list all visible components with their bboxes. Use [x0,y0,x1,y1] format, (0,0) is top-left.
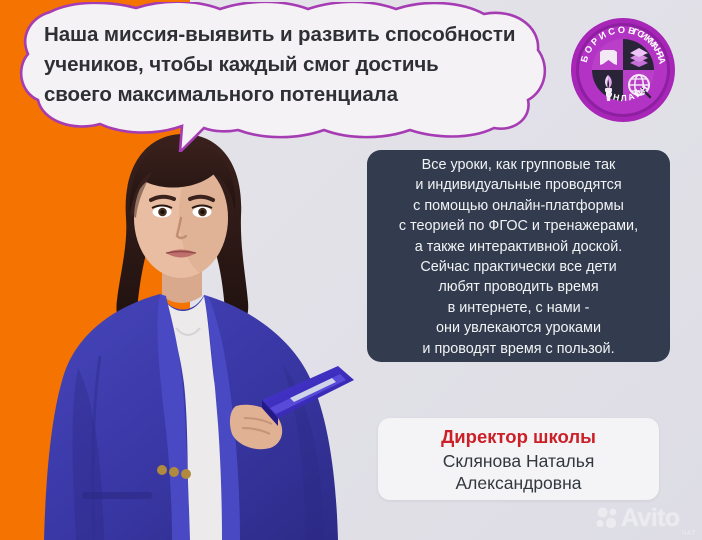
jacket-button [169,467,179,477]
jacket-pocket [82,492,152,499]
director-name: Склянова Наталья Александровна [443,451,595,495]
info-line-3: с помощью онлайн-платформы [377,196,660,216]
school-logo: БОРИСОВСКАЯ ГИМНАЗИЯ ОНЛАЙН [570,17,676,123]
director-photo [38,118,368,540]
info-panel-text: Все уроки, как групповые так и индивидуа… [377,155,660,360]
jacket-button [157,465,167,475]
info-line-7: любят проводить время [377,277,660,297]
info-line-8: в интернете, с нами - [377,298,660,318]
poster-canvas: Наша миссия-выявить и развить способност… [0,0,702,540]
director-role-label: Директор школы [441,426,596,448]
info-line-2: и индивидуальные проводятся [377,175,660,195]
speech-bubble-text: Наша миссия-выявить и развить способност… [44,20,524,110]
jacket-button [181,469,191,479]
info-line-9: они увлекаются уроками [377,318,660,338]
director-name-line-1: Склянова Наталья [443,451,595,473]
director-card: Директор школы Склянова Наталья Александ… [378,418,659,500]
bubble-line-3: своего максимального потенциала [44,80,524,110]
info-line-4: с теорией по ФГОС и тренажерами, [377,216,660,236]
director-name-line-2: Александровна [443,473,595,495]
info-line-5: а также интерактивной доской. [377,237,660,257]
info-line-6: Сейчас практически все дети [377,257,660,277]
info-panel: Все уроки, как групповые так и индивидуа… [367,150,670,362]
info-line-1: Все уроки, как групповые так [377,155,660,175]
bubble-line-2: учеников, чтобы каждый смог достичь [44,50,524,80]
info-line-10: и проводят время с пользой. [377,339,660,359]
bubble-line-1: Наша миссия-выявить и развить способност… [44,20,524,50]
speech-bubble: Наша миссия-выявить и развить способност… [14,2,559,152]
